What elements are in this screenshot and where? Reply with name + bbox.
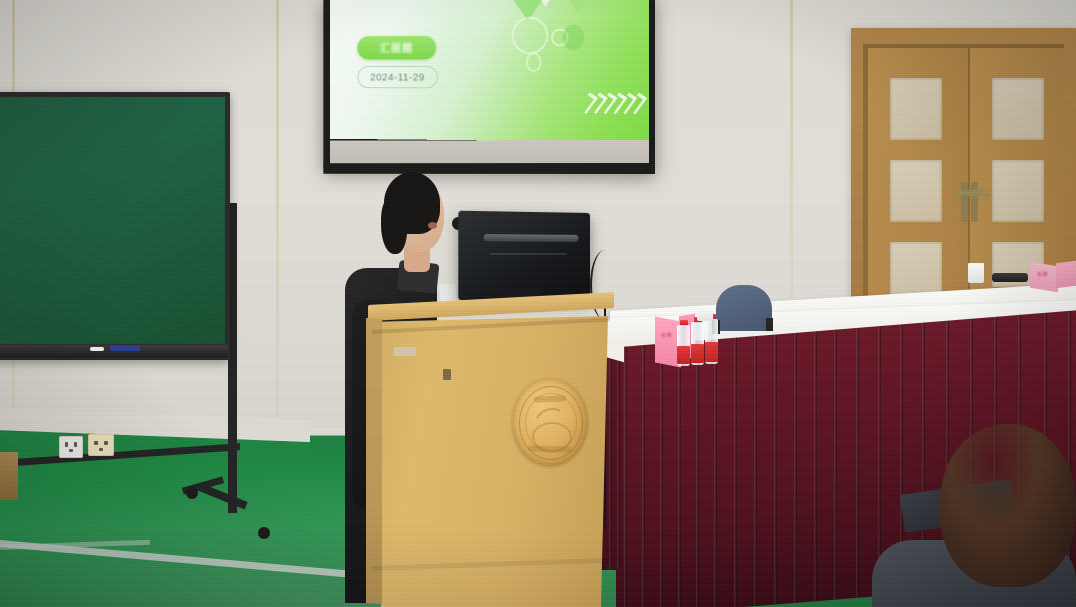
door-handle-icon[interactable] bbox=[961, 182, 968, 222]
chalkboard bbox=[0, 92, 230, 360]
water-bottle[interactable] bbox=[705, 314, 718, 364]
water-bottle[interactable] bbox=[677, 320, 690, 366]
bottle-label bbox=[705, 342, 718, 362]
conference-chair[interactable] bbox=[716, 285, 772, 331]
door-panel bbox=[992, 78, 1044, 140]
monitor-seam bbox=[490, 253, 567, 255]
power-outlet-beige[interactable] bbox=[88, 434, 114, 456]
circle-icon bbox=[512, 17, 549, 55]
power-outlet-white[interactable] bbox=[59, 436, 83, 458]
paper-box bbox=[697, 307, 713, 321]
podium-plate bbox=[394, 347, 416, 356]
place-card-text: 名牌 bbox=[1037, 272, 1048, 278]
chair-leg bbox=[766, 318, 773, 331]
presenter-mouth bbox=[428, 222, 437, 229]
chalk-piece[interactable] bbox=[90, 347, 104, 351]
paper-cup[interactable] bbox=[968, 263, 984, 283]
podium-side bbox=[366, 318, 382, 604]
slide-title-text: 汇报题 bbox=[380, 40, 413, 56]
monitor-vent bbox=[484, 234, 579, 242]
door-panel bbox=[992, 160, 1044, 222]
projection-screen: 汇报题 2024-11-29 bbox=[330, 0, 649, 142]
cross-icon bbox=[500, 57, 513, 71]
caster-wheel-icon bbox=[186, 487, 198, 499]
circle-icon bbox=[563, 24, 584, 50]
audience-head bbox=[940, 424, 1076, 587]
bottle-label bbox=[677, 346, 690, 364]
chalkboard-texture bbox=[0, 97, 225, 344]
place-card-face bbox=[1056, 261, 1076, 288]
eraser-icon[interactable] bbox=[110, 345, 140, 351]
podium-monitor[interactable] bbox=[458, 211, 590, 301]
door-panel bbox=[890, 78, 942, 140]
cross-icon bbox=[540, 0, 555, 7]
presenter-hair-back bbox=[381, 196, 407, 254]
bottle-label bbox=[691, 344, 704, 363]
caster-wheel-icon bbox=[258, 527, 270, 539]
slide-date-text: 2024-11-29 bbox=[370, 71, 425, 83]
chalkboard-surface bbox=[0, 97, 225, 344]
podium-emblem bbox=[512, 378, 588, 466]
wall-seam bbox=[790, 0, 793, 300]
door-panel bbox=[890, 160, 942, 222]
place-card-right: 名牌 bbox=[1030, 262, 1076, 292]
wall-cabinet bbox=[0, 452, 18, 500]
slide-title-pill: 汇报题 bbox=[357, 36, 436, 59]
screen-bottom-bar bbox=[323, 163, 655, 174]
circle-icon bbox=[526, 52, 541, 72]
slide-date-pill: 2024-11-29 bbox=[357, 66, 438, 88]
remote-case[interactable] bbox=[992, 273, 1028, 282]
wall-seam bbox=[276, 0, 279, 470]
door-handle-icon[interactable] bbox=[971, 182, 978, 222]
lecture-hall-photo: 汇报题 2024-11-29 bbox=[0, 0, 1076, 607]
water-bottle[interactable] bbox=[691, 317, 704, 365]
podium-latch-icon[interactable] bbox=[443, 369, 451, 380]
